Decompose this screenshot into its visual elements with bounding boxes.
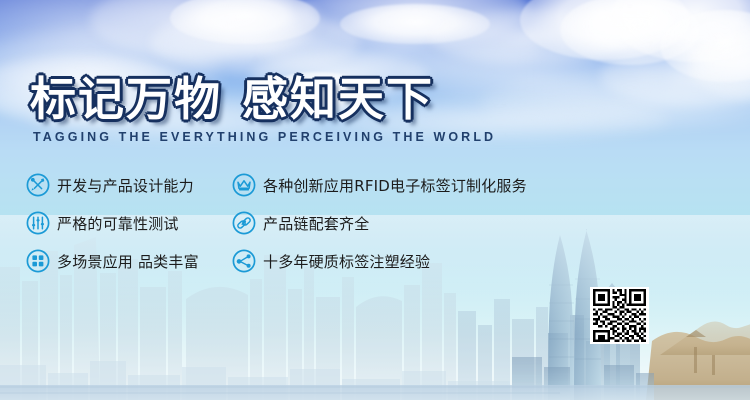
crossed-tools-icon — [26, 173, 50, 197]
sliders-icon — [26, 211, 50, 235]
feature-item: 多场景应用 品类丰富 — [26, 242, 232, 280]
promotional-banner: 标记万物感知天下 TAGGING THE EVERYTHING PERCEIVI… — [0, 0, 750, 400]
feature-label: 产品链配套齐全 — [263, 213, 369, 234]
feature-label: 十多年硬质标签注塑经验 — [263, 251, 430, 272]
grid-squares-icon — [26, 249, 50, 273]
subheadline: TAGGING THE EVERYTHING PERCEIVING THE WO… — [33, 130, 496, 144]
feature-item: 各种创新应用RFID电子标签订制化服务 — [232, 166, 527, 204]
share-network-icon — [232, 249, 256, 273]
headline-part-2: 感知天下 — [242, 72, 434, 126]
qr-code[interactable] — [590, 287, 649, 344]
feature-item: 开发与产品设计能力 — [26, 166, 232, 204]
feature-item: 十多年硬质标签注塑经验 — [232, 242, 527, 280]
feature-item: 产品链配套齐全 — [232, 204, 527, 242]
headline: 标记万物感知天下 — [30, 74, 496, 124]
crown-icon — [232, 173, 256, 197]
feature-label: 多场景应用 品类丰富 — [57, 251, 199, 272]
feature-list: 开发与产品设计能力 各种创新应用RFID电子标签订制化服务 — [26, 166, 527, 280]
headline-block: 标记万物感知天下 TAGGING THE EVERYTHING PERCEIVI… — [30, 74, 496, 144]
feature-item: 严格的可靠性测试 — [26, 204, 232, 242]
headline-part-1: 标记万物 — [30, 72, 222, 126]
feature-label: 各种创新应用RFID电子标签订制化服务 — [263, 175, 527, 196]
feature-label: 开发与产品设计能力 — [57, 175, 194, 196]
feature-label: 严格的可靠性测试 — [57, 213, 179, 234]
link-chain-icon — [232, 211, 256, 235]
